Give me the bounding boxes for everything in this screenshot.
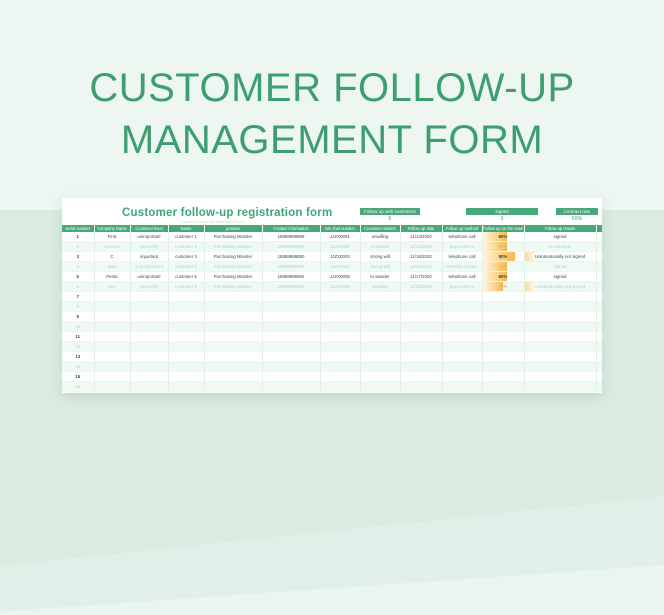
cell-empty[interactable] — [400, 322, 442, 332]
cell-empty[interactable] — [524, 392, 596, 394]
cell-contact[interactable]: 18888888891 — [262, 262, 320, 272]
col-follow-up-method[interactable]: Follow up method — [442, 225, 482, 232]
progress-value: 60% — [499, 264, 508, 269]
cell-empty[interactable] — [94, 352, 130, 362]
cell-empty[interactable] — [130, 382, 168, 392]
cell-empty[interactable] — [168, 302, 204, 312]
cell-wishes[interactable]: unwilling — [360, 232, 400, 242]
cell-wishes[interactable]: to wander — [360, 272, 400, 282]
cell-empty[interactable] — [596, 372, 602, 382]
col-serial-number[interactable]: serial number — [62, 225, 94, 232]
cell-empty[interactable] — [400, 292, 442, 302]
cell-name[interactable]: customer 6 — [168, 282, 204, 292]
cell-empty[interactable] — [482, 392, 524, 394]
table-row-empty[interactable]: 7 — [62, 292, 602, 302]
page-title-line-1: CUSTOMER FOLLOW-UP — [0, 62, 664, 114]
table-row-empty[interactable]: 13 — [62, 352, 602, 362]
table-row[interactable]: 5Pentaunimportantcustomer 5Purchasing Mi… — [62, 272, 602, 282]
cell-empty[interactable] — [596, 382, 602, 392]
table-row-empty[interactable]: 10 — [62, 322, 602, 332]
cell-empty[interactable] — [442, 302, 482, 312]
col-wechat-number[interactable]: We chat number — [320, 225, 360, 232]
cell-empty[interactable] — [204, 332, 262, 342]
cell-date[interactable]: 11/18/2020 — [400, 282, 442, 292]
cell-empty[interactable] — [524, 352, 596, 362]
cell-result[interactable]: Unintentionally not signed — [524, 282, 596, 292]
cell-empty[interactable] — [262, 382, 320, 392]
table-row[interactable]: 3Cimportantcustomer 3Purchasing Minister… — [62, 252, 602, 262]
cell-empty[interactable] — [360, 352, 400, 362]
cell-empty[interactable] — [168, 332, 204, 342]
cell-empty[interactable] — [320, 292, 360, 302]
col-company-name[interactable]: Company Name — [94, 225, 130, 232]
cell-date[interactable]: 11/16/2020 — [400, 262, 442, 272]
cell-empty[interactable] — [94, 332, 130, 342]
cell-serial[interactable]: 14 — [62, 362, 94, 372]
cell-position[interactable]: Purchasing Minister — [204, 262, 262, 272]
cell-empty[interactable] — [130, 332, 168, 342]
cell-empty[interactable] — [320, 372, 360, 382]
cell-empty[interactable] — [360, 392, 400, 394]
cell-name[interactable]: customer 2 — [168, 242, 204, 252]
cell-contact[interactable]: 18888888893 — [262, 282, 320, 292]
cell-empty[interactable] — [442, 332, 482, 342]
cell-wechat[interactable]: JJZX0003 — [320, 252, 360, 262]
cell-progress[interactable]: 60% — [482, 262, 524, 272]
cell-empty[interactable] — [596, 332, 602, 342]
cell-empty[interactable] — [596, 362, 602, 372]
table-row-empty[interactable]: 15 — [62, 372, 602, 382]
cell-serial[interactable]: 11 — [62, 332, 94, 342]
kpi-signed-label: signed — [466, 208, 538, 215]
registration-table: serial number Company Name Customer leve… — [62, 225, 602, 393]
table-row-empty[interactable]: 8 — [62, 302, 602, 312]
cell-method[interactable]: pay a visit to — [442, 242, 482, 252]
cell-name[interactable]: customer 3 — [168, 252, 204, 262]
cell-date[interactable]: 11/14/2020 — [400, 242, 442, 252]
kpi-contract-rate-label: Contract rate — [556, 208, 598, 215]
cell-method[interactable]: telephone call — [442, 232, 482, 242]
cell-empty[interactable] — [400, 372, 442, 382]
cell-position[interactable]: Purchasing Minister — [204, 282, 262, 292]
cell-method[interactable]: pay a visit to — [442, 282, 482, 292]
cell-empty[interactable] — [204, 342, 262, 352]
table-row-empty[interactable]: 16 — [62, 382, 602, 392]
cell-empty[interactable] — [168, 392, 204, 394]
cell-contact[interactable]: 18888888888 — [262, 232, 320, 242]
cell-date[interactable]: 11/15/2020 — [400, 252, 442, 262]
cell-serial[interactable]: 13 — [62, 352, 94, 362]
cell-empty[interactable] — [442, 322, 482, 332]
cell-serial[interactable]: 4 — [62, 262, 94, 272]
progress-value: 60% — [499, 274, 508, 279]
cell-contact[interactable]: 18888888890 — [262, 252, 320, 262]
table-row[interactable]: 2Secondgenerallycustomer 2Purchasing Min… — [62, 242, 602, 252]
table-row-empty[interactable]: 11 — [62, 332, 602, 342]
sheet-subtitle: Customer follow-up registration form — [180, 220, 245, 224]
cell-empty[interactable] — [400, 352, 442, 362]
cell-date[interactable]: 11/17/2020 — [400, 272, 442, 282]
cell-empty[interactable] — [400, 342, 442, 352]
result-value: Unintentionally not signed — [535, 284, 585, 289]
cell-empty[interactable] — [204, 322, 262, 332]
cell-empty[interactable] — [400, 312, 442, 322]
cell-company[interactable]: Penta — [94, 272, 130, 282]
cell-empty[interactable] — [204, 382, 262, 392]
cell-empty[interactable] — [524, 302, 596, 312]
cell-contact[interactable]: 18888888889 — [262, 242, 320, 252]
cell-empty[interactable] — [168, 382, 204, 392]
cell-wechat[interactable]: JJZX0004 — [320, 262, 360, 272]
progress-value: 50% — [499, 284, 508, 289]
cell-empty[interactable] — [360, 372, 400, 382]
cell-method[interactable]: telephone call — [442, 252, 482, 262]
cell-name[interactable]: customer 4 — [168, 262, 204, 272]
cell-empty[interactable] — [360, 302, 400, 312]
cell-empty[interactable] — [442, 352, 482, 362]
table-body: 1Firstunimportantcustomer 1Purchasing Mi… — [62, 232, 602, 393]
cell-empty[interactable] — [262, 292, 320, 302]
cell-empty[interactable] — [320, 382, 360, 392]
cell-empty[interactable] — [482, 292, 524, 302]
cell-company[interactable]: First — [94, 232, 130, 242]
cell-empty[interactable] — [482, 332, 524, 342]
cell-empty[interactable] — [524, 312, 596, 322]
cell-empty[interactable] — [130, 292, 168, 302]
cell-name[interactable]: customer 1 — [168, 232, 204, 242]
cell-empty[interactable] — [482, 322, 524, 332]
cell-empty[interactable] — [482, 382, 524, 392]
kpi-signed-value: 3 — [466, 215, 538, 224]
cell-empty[interactable] — [482, 362, 524, 372]
result-value: signed — [554, 264, 567, 269]
cell-empty[interactable] — [360, 362, 400, 372]
cell-result[interactable]: Unintentionally not signed — [524, 252, 596, 262]
table-row-empty[interactable]: 12 — [62, 342, 602, 352]
cell-empty[interactable] — [94, 292, 130, 302]
cell-empty[interactable] — [94, 322, 130, 332]
cell-empty[interactable] — [168, 292, 204, 302]
table-header-row: serial number Company Name Customer leve… — [62, 225, 602, 232]
cell-level[interactable]: important — [130, 252, 168, 262]
sheet-title: Customer follow-up registration form — [122, 207, 332, 219]
cell-empty[interactable] — [94, 382, 130, 392]
col-remark[interactable]: Remark — [596, 225, 602, 232]
cell-empty[interactable] — [524, 362, 596, 372]
cell-empty[interactable] — [360, 312, 400, 322]
cell-empty[interactable] — [524, 372, 596, 382]
cell-empty[interactable] — [262, 362, 320, 372]
table-row[interactable]: 4Manvery importantcustomer 4Purchasing M… — [62, 262, 602, 272]
cell-wechat[interactable]: JJZX0001 — [320, 232, 360, 242]
cell-empty[interactable] — [400, 362, 442, 372]
cell-level[interactable]: very important — [130, 262, 168, 272]
cell-empty[interactable] — [320, 362, 360, 372]
cell-serial[interactable]: 8 — [62, 302, 94, 312]
cell-wishes[interactable]: unwilling — [360, 282, 400, 292]
cell-progress[interactable]: 60% — [482, 272, 524, 282]
cell-empty[interactable] — [204, 302, 262, 312]
cell-empty[interactable] — [482, 372, 524, 382]
cell-company[interactable]: Hee — [94, 282, 130, 292]
progress-value: 60% — [499, 234, 508, 239]
cell-progress[interactable]: 60% — [482, 232, 524, 242]
cell-empty[interactable] — [596, 342, 602, 352]
cell-empty[interactable] — [524, 332, 596, 342]
cell-result[interactable]: signed — [524, 262, 596, 272]
result-value: Unintentionally not signed — [535, 254, 585, 259]
kpi-follow-up-label: Follow up with customers — [360, 208, 420, 215]
cell-wechat[interactable]: JJZX0002 — [320, 242, 360, 252]
cell-progress[interactable]: 50% — [482, 282, 524, 292]
cell-empty[interactable] — [442, 342, 482, 352]
cell-position[interactable]: Purchasing Minister — [204, 272, 262, 282]
cell-name[interactable]: customer 5 — [168, 272, 204, 282]
cell-empty[interactable] — [320, 352, 360, 362]
cell-company[interactable]: C — [94, 252, 130, 262]
cell-remark[interactable] — [596, 242, 602, 252]
col-position[interactable]: position — [204, 225, 262, 232]
cell-empty[interactable] — [596, 322, 602, 332]
cell-method[interactable]: WeChat contact — [442, 262, 482, 272]
cell-empty[interactable] — [360, 332, 400, 342]
cell-progress[interactable]: 80% — [482, 252, 524, 262]
kpi-follow-up-with-customers: Follow up with customers 6 — [360, 208, 420, 224]
cell-empty[interactable] — [360, 382, 400, 392]
cell-empty[interactable] — [262, 302, 320, 312]
kpi-contract-rate: Contract rate 50% — [556, 208, 598, 224]
cell-empty[interactable] — [596, 302, 602, 312]
cell-wechat[interactable]: JJZX0005 — [320, 272, 360, 282]
cell-empty[interactable] — [130, 372, 168, 382]
result-value: signed — [554, 274, 567, 279]
cell-empty[interactable] — [442, 382, 482, 392]
cell-empty[interactable] — [360, 342, 400, 352]
cell-empty[interactable] — [442, 392, 482, 394]
progress-value: 60% — [499, 244, 508, 249]
cell-empty[interactable] — [262, 312, 320, 322]
cell-empty[interactable] — [204, 352, 262, 362]
cell-empty[interactable] — [442, 292, 482, 302]
cell-empty[interactable] — [130, 302, 168, 312]
cell-empty[interactable] — [262, 392, 320, 394]
cell-empty[interactable] — [262, 352, 320, 362]
cell-empty[interactable] — [168, 322, 204, 332]
cell-empty[interactable] — [94, 392, 130, 394]
cell-level[interactable]: unimportant — [130, 232, 168, 242]
cell-empty[interactable] — [400, 382, 442, 392]
table-row[interactable]: 1Firstunimportantcustomer 1Purchasing Mi… — [62, 232, 602, 242]
col-name[interactable]: Name — [168, 225, 204, 232]
cell-serial[interactable]: 12 — [62, 342, 94, 352]
cell-wechat[interactable]: JJZX0006 — [320, 282, 360, 292]
cell-serial[interactable]: 17 — [62, 392, 94, 394]
cell-empty[interactable] — [320, 392, 360, 394]
kpi-signed: signed 3 — [466, 208, 538, 224]
cell-empty[interactable] — [168, 372, 204, 382]
cell-empty[interactable] — [320, 342, 360, 352]
page-title: CUSTOMER FOLLOW-UP MANAGEMENT FORM — [0, 62, 664, 166]
cell-empty[interactable] — [320, 332, 360, 342]
cell-position[interactable]: Purchasing Minister — [204, 252, 262, 262]
cell-remark[interactable] — [596, 232, 602, 242]
cell-wishes[interactable]: to wander — [360, 242, 400, 252]
col-customer-wishes[interactable]: Customer wishes — [360, 225, 400, 232]
cell-empty[interactable] — [524, 292, 596, 302]
cell-remark[interactable] — [596, 272, 602, 282]
cell-empty[interactable] — [204, 292, 262, 302]
cell-empty[interactable] — [320, 302, 360, 312]
result-value: signed — [554, 234, 567, 239]
cell-remark[interactable] — [596, 282, 602, 292]
table-row[interactable]: 6Heegenerallycustomer 6Purchasing Minist… — [62, 282, 602, 292]
cell-empty[interactable] — [94, 372, 130, 382]
cell-empty[interactable] — [482, 312, 524, 322]
cell-serial[interactable]: 15 — [62, 372, 94, 382]
cell-empty[interactable] — [360, 292, 400, 302]
kpi-follow-up-value: 6 — [360, 215, 420, 224]
cell-method[interactable]: telephone call — [442, 272, 482, 282]
cell-empty[interactable] — [360, 322, 400, 332]
cell-serial[interactable]: 16 — [62, 382, 94, 392]
progress-value: 80% — [499, 254, 508, 259]
cell-serial[interactable]: 10 — [62, 322, 94, 332]
cell-empty[interactable] — [130, 362, 168, 372]
cell-date[interactable]: 11/13/2020 — [400, 232, 442, 242]
cell-result[interactable]: no intention — [524, 242, 596, 252]
cell-empty[interactable] — [524, 342, 596, 352]
cell-empty[interactable] — [596, 292, 602, 302]
spreadsheet-card: Customer follow-up registration form Cus… — [62, 198, 602, 393]
cell-empty[interactable] — [130, 392, 168, 394]
cell-empty[interactable] — [442, 312, 482, 322]
cell-empty[interactable] — [130, 312, 168, 322]
cell-level[interactable]: generally — [130, 242, 168, 252]
cell-serial[interactable]: 7 — [62, 292, 94, 302]
cell-serial[interactable]: 1 — [62, 232, 94, 242]
cell-empty[interactable] — [130, 322, 168, 332]
cell-empty[interactable] — [482, 342, 524, 352]
cell-level[interactable]: unimportant — [130, 272, 168, 282]
cell-empty[interactable] — [168, 312, 204, 322]
col-contact-information[interactable]: Contact information — [262, 225, 320, 232]
cell-empty[interactable] — [94, 302, 130, 312]
cell-empty[interactable] — [596, 352, 602, 362]
cell-wishes[interactable]: strong will — [360, 252, 400, 262]
cell-empty[interactable] — [94, 312, 130, 322]
cell-company[interactable]: Second — [94, 242, 130, 252]
cell-empty[interactable] — [204, 392, 262, 394]
col-follow-up-on-the-case[interactable]: Follow up on the case — [482, 225, 524, 232]
cell-empty[interactable] — [482, 352, 524, 362]
cell-serial[interactable]: 9 — [62, 312, 94, 322]
cell-empty[interactable] — [168, 362, 204, 372]
page-title-line-2: MANAGEMENT FORM — [0, 114, 664, 166]
cell-empty[interactable] — [320, 322, 360, 332]
col-customer-level[interactable]: Customer level — [130, 225, 168, 232]
cell-empty[interactable] — [596, 392, 602, 394]
cell-empty[interactable] — [442, 372, 482, 382]
cell-empty[interactable] — [94, 362, 130, 372]
table-row-empty[interactable]: 17 — [62, 392, 602, 394]
cell-empty[interactable] — [94, 342, 130, 352]
cell-empty[interactable] — [204, 312, 262, 322]
cell-serial[interactable]: 3 — [62, 252, 94, 262]
cell-progress[interactable]: 60% — [482, 242, 524, 252]
cell-empty[interactable] — [400, 332, 442, 342]
cell-empty[interactable] — [262, 332, 320, 342]
cell-empty[interactable] — [204, 372, 262, 382]
cell-empty[interactable] — [320, 312, 360, 322]
cell-empty[interactable] — [262, 322, 320, 332]
kpi-contract-rate-value: 50% — [556, 215, 598, 224]
cell-empty[interactable] — [596, 312, 602, 322]
cell-empty[interactable] — [442, 362, 482, 372]
cell-empty[interactable] — [204, 362, 262, 372]
cell-serial[interactable]: 2 — [62, 242, 94, 252]
table-row-empty[interactable]: 14 — [62, 362, 602, 372]
cell-empty[interactable] — [262, 342, 320, 352]
cell-empty[interactable] — [130, 342, 168, 352]
cell-serial[interactable]: 5 — [62, 272, 94, 282]
cell-result[interactable]: signed — [524, 232, 596, 242]
cell-empty[interactable] — [130, 352, 168, 362]
cell-level[interactable]: generally — [130, 282, 168, 292]
cell-empty[interactable] — [400, 392, 442, 394]
cell-wishes[interactable]: strong will — [360, 262, 400, 272]
col-follow-up-date[interactable]: Follow up date — [400, 225, 442, 232]
cell-empty[interactable] — [524, 382, 596, 392]
cell-position[interactable]: Purchasing Minister — [204, 232, 262, 242]
cell-empty[interactable] — [400, 302, 442, 312]
cell-serial[interactable]: 6 — [62, 282, 94, 292]
cell-empty[interactable] — [482, 302, 524, 312]
cell-remark[interactable] — [596, 252, 602, 262]
result-value: no intention — [549, 244, 572, 249]
cell-empty[interactable] — [168, 342, 204, 352]
cell-position[interactable]: Purchasing Minister — [204, 242, 262, 252]
cell-empty[interactable] — [168, 352, 204, 362]
cell-empty[interactable] — [262, 372, 320, 382]
cell-result[interactable]: signed — [524, 272, 596, 282]
cell-contact[interactable]: 18888888892 — [262, 272, 320, 282]
cell-remark[interactable] — [596, 262, 602, 272]
cell-company[interactable]: Man — [94, 262, 130, 272]
col-follow-up-results[interactable]: Follow up results — [524, 225, 596, 232]
table-row-empty[interactable]: 9 — [62, 312, 602, 322]
cell-empty[interactable] — [524, 322, 596, 332]
